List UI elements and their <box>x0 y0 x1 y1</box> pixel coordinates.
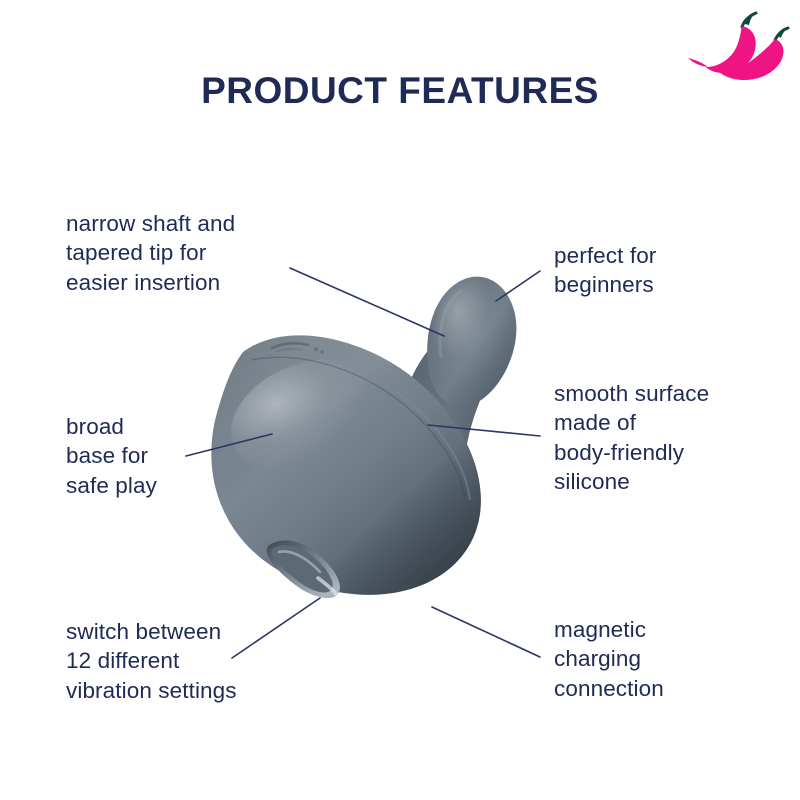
callout-narrow-shaft: narrow shaft and tapered tip for easier … <box>66 209 326 297</box>
button-highlight <box>279 551 320 572</box>
product-base-crease-shadow <box>252 357 465 498</box>
button-recess[interactable] <box>267 541 340 599</box>
callout-magnetic-charging: magnetic charging connection <box>554 615 784 703</box>
product-base-crease <box>249 353 470 500</box>
product-tip-sheen <box>440 291 461 356</box>
callout-switch-modes: switch between 12 different vibration se… <box>66 617 336 705</box>
callout-perfect-for-beginners: perfect for beginners <box>554 241 784 300</box>
infographic-canvas: PRODUCT FEATURES <box>0 0 800 800</box>
product-tip-body <box>427 277 516 407</box>
product-embossed-markings <box>272 343 324 353</box>
pepper-tail-back <box>688 58 708 67</box>
product-neck <box>395 326 498 520</box>
callout-broad-base: broad base for safe play <box>66 412 266 500</box>
product-tip-highlight <box>427 277 516 407</box>
button-face[interactable] <box>271 545 333 592</box>
page-title: PRODUCT FEATURES <box>0 72 800 109</box>
button-edge-glint <box>318 578 336 594</box>
leader-line-magnetic <box>432 607 540 657</box>
leader-line-smooth-surface <box>428 425 540 436</box>
vibration-mode-button[interactable] <box>267 541 340 599</box>
leader-line-beginners <box>496 271 540 301</box>
product-tip <box>427 277 516 407</box>
callout-smooth-surface: smooth surface made of body-friendly sil… <box>554 379 789 496</box>
